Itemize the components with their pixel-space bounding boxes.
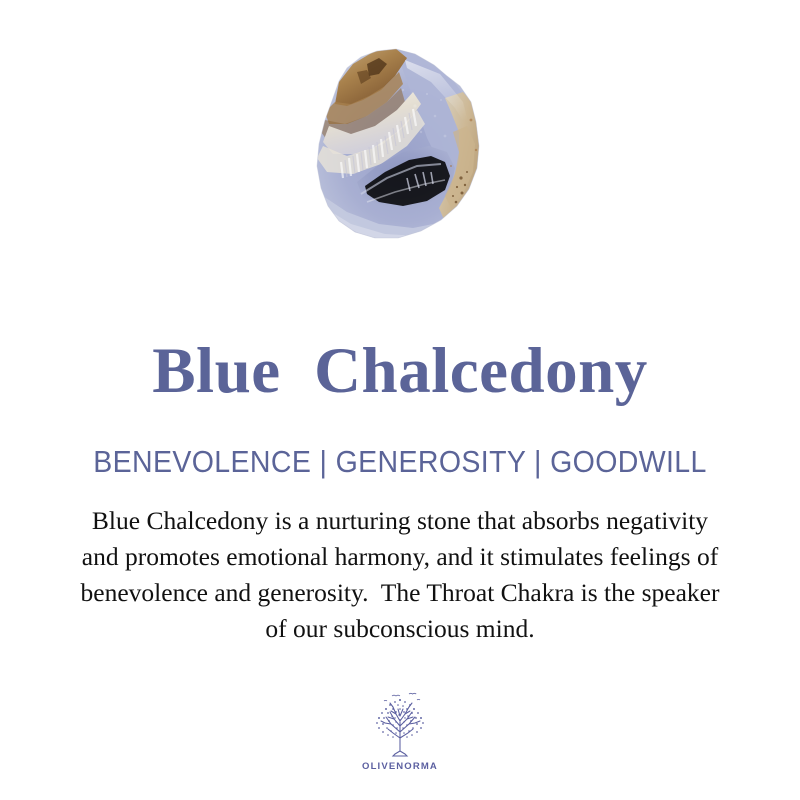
blue-chalcedony-stone-image [295, 46, 505, 261]
brand-wordmark: OLIVENORMA [362, 761, 438, 772]
keyword-subtitle: BENEVOLENCE | GENEROSITY | GOODWILL [32, 444, 768, 480]
hero-image-container [0, 46, 800, 261]
description-line: Blue Chalcedony is a nurturing stone tha… [0, 503, 800, 539]
brand-logo: OLIVENORMA [0, 688, 800, 772]
description-line: and promotes emotional harmony, and it s… [0, 539, 800, 575]
olive-tree-logo-icon [362, 688, 438, 760]
stone-body [295, 46, 505, 261]
description-paragraph: Blue Chalcedony is a nurturing stone tha… [0, 503, 800, 647]
description-line: of our subconscious mind. [0, 611, 800, 647]
description-line: benevolence and generosity. The Throat C… [0, 575, 800, 611]
product-info-card: Blue Chalcedony BENEVOLENCE | GENEROSITY… [0, 0, 800, 800]
page-title: Blue Chalcedony [0, 334, 800, 408]
